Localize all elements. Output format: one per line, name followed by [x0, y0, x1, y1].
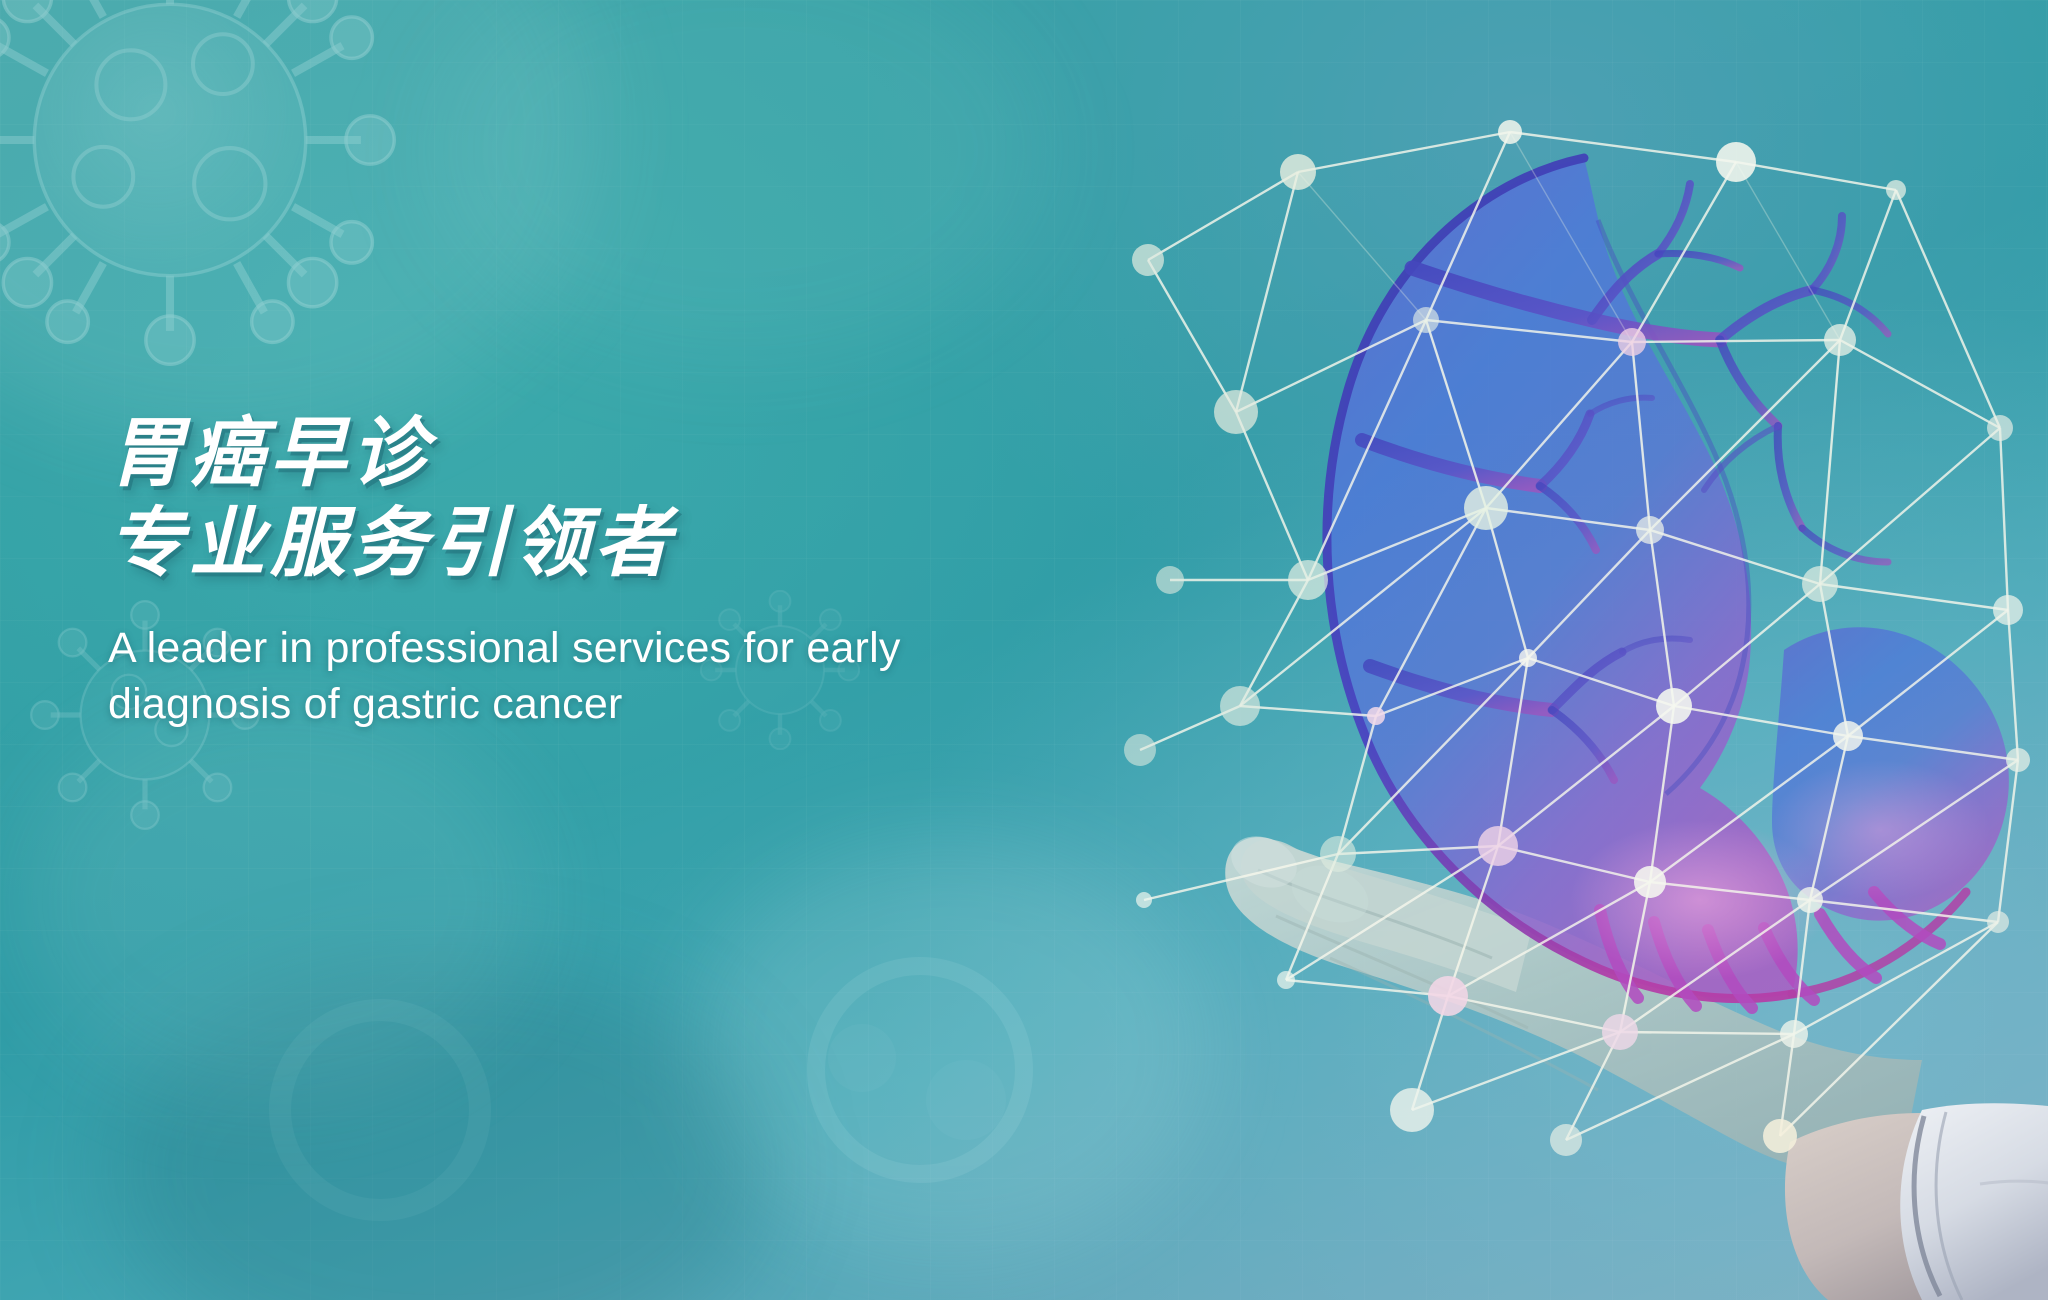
- headline-line-1: 胃癌早诊: [108, 408, 432, 497]
- page-title: 胃癌早诊 专业服务引领者: [108, 408, 1128, 587]
- hero-banner: 胃癌早诊 专业服务引领者 A leader in professional se…: [0, 0, 2048, 1300]
- stomach-organ: [1327, 158, 2009, 1008]
- faint-cell-blob-left: [230, 980, 530, 1240]
- stomach-in-hand-illustration: [1180, 110, 2048, 1300]
- subtitle-line-1: A leader in professional services for ea…: [108, 624, 901, 672]
- open-cupped-hand: [1223, 827, 1922, 1172]
- light-blob-upper-left: [0, 0, 600, 440]
- dark-blob-lower-left: [110, 960, 770, 1300]
- coronavirus-icon-large: [0, 0, 400, 350]
- light-blob-top-center: [430, 0, 1050, 360]
- polygon-network-mesh: [1124, 120, 2030, 1156]
- page-subtitle: A leader in professional services for ea…: [108, 621, 1108, 733]
- hero-text-block: 胃癌早诊 专业服务引领者 A leader in professional se…: [108, 408, 1128, 733]
- light-blob-lower-center: [690, 840, 1210, 1260]
- faint-cell-blob-center: [770, 940, 1070, 1200]
- wrist-and-lab-coat-sleeve: [1785, 1103, 2048, 1300]
- light-blob-mid-left: [20, 700, 540, 1100]
- subtitle-line-2: diagnosis of gastric cancer: [108, 680, 623, 728]
- headline-line-2: 专业服务引领者: [108, 498, 1128, 588]
